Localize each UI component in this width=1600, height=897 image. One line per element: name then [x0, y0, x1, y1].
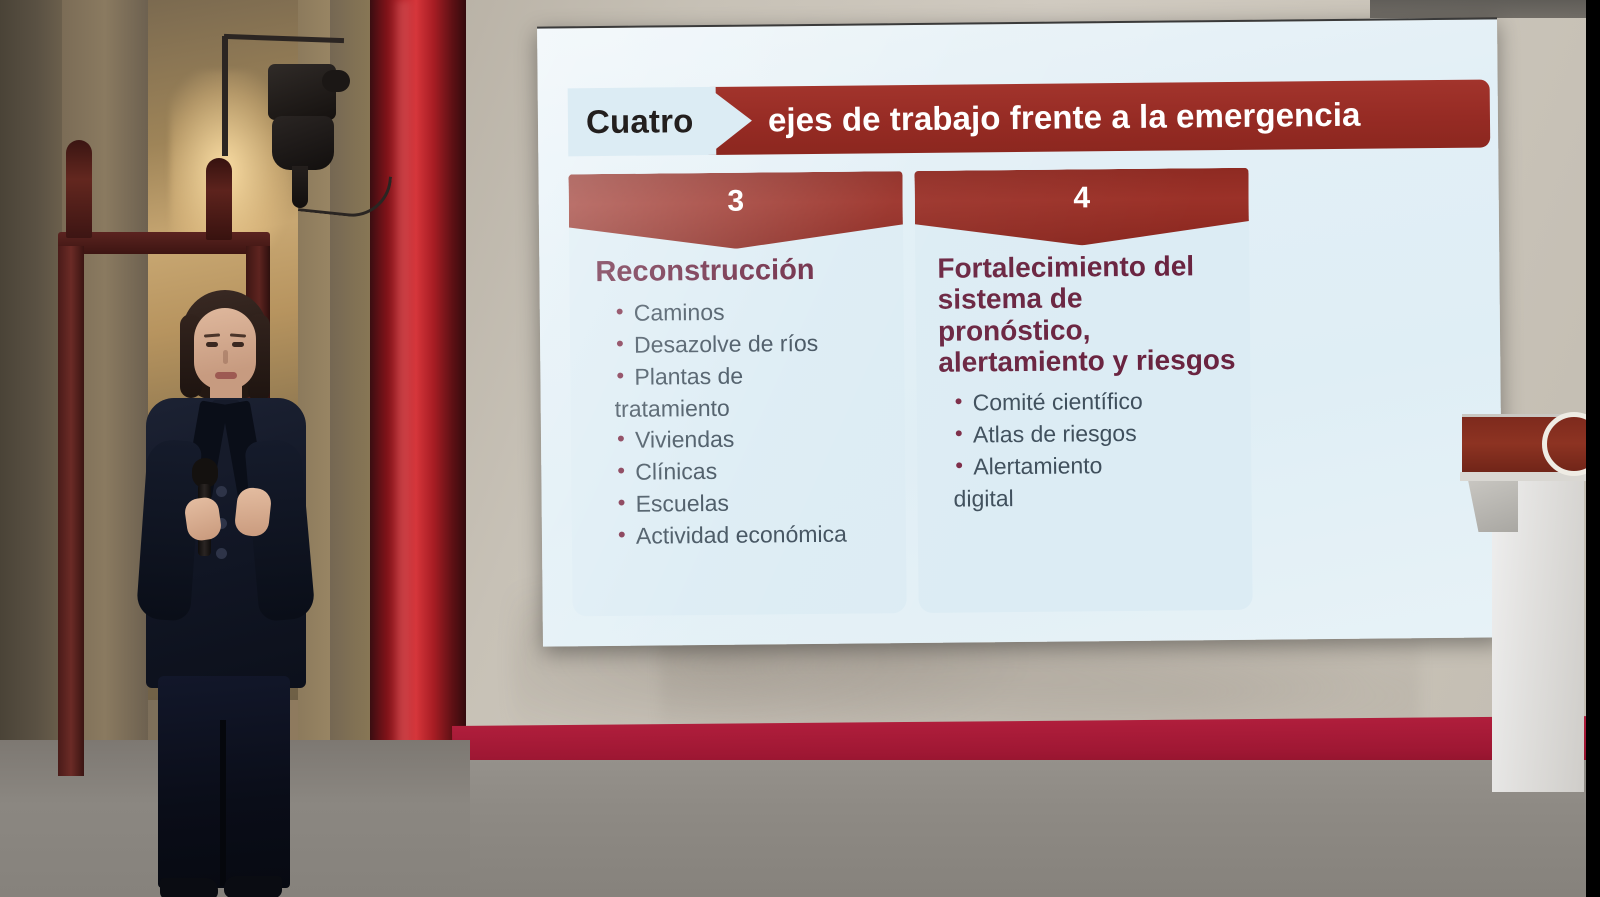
- column-4-header: 4: [914, 168, 1249, 247]
- presenter-eye-right: [232, 342, 244, 347]
- column-3-bullet-list: Caminos Desazolve de ríos Plantas de tra…: [596, 296, 892, 553]
- slide-title-prefix: Cuatro: [568, 87, 716, 156]
- presenter: [120, 290, 330, 810]
- column-4-body: Fortalecimiento del sistema de pronóstic…: [915, 244, 1252, 526]
- column-3-body: Reconstrucción Caminos Desazolve de ríos…: [569, 247, 906, 563]
- curtain-highlight: [392, 0, 414, 775]
- list-item: Viviendas: [615, 423, 891, 457]
- dark-column-outer: [0, 0, 62, 760]
- list-item: Caminos: [614, 296, 890, 330]
- slide-canvas: ejes de trabajo frente a la emergencia C…: [537, 17, 1503, 646]
- right-edge-letterbox: [1586, 0, 1600, 897]
- presenter-trouser-split: [220, 720, 226, 886]
- column-4-number: 4: [915, 180, 1249, 217]
- list-item-continuation: digital: [953, 481, 1237, 515]
- wooden-arch-left-post: [58, 246, 84, 776]
- presenter-shoe-right: [224, 876, 282, 897]
- presenter-mouth: [215, 372, 237, 379]
- arch-finial-left: [66, 140, 92, 238]
- column-3-heading: Reconstrucción: [595, 253, 889, 288]
- presenter-button-3: [216, 548, 227, 559]
- red-curtain: [370, 0, 466, 775]
- list-item: Desazolve de ríos: [614, 327, 890, 361]
- list-item: Comité científico: [953, 385, 1237, 419]
- list-item: Atlas de riesgos: [953, 417, 1237, 451]
- presenter-eye-left: [206, 342, 218, 347]
- camera-mount-pole: [222, 36, 228, 156]
- slide-title-row: ejes de trabajo frente a la emergencia C…: [568, 79, 1491, 156]
- camera-lens-hood-icon: [322, 70, 350, 92]
- slide-columns: 3 Reconstrucción Caminos Desazolve de rí…: [568, 168, 1252, 617]
- column-4-bullet-list: Comité científico Atlas de riesgos Alert…: [939, 385, 1238, 515]
- column-3-header: 3: [568, 171, 903, 250]
- slide-column-3: 3 Reconstrucción Caminos Desazolve de rí…: [568, 171, 906, 616]
- presenter-shoe-left: [160, 878, 218, 897]
- slide-title-main: ejes de trabajo frente a la emergencia: [768, 96, 1361, 140]
- list-item-continuation: tratamiento: [615, 391, 891, 425]
- list-item: Alertamiento: [953, 449, 1237, 483]
- presenter-button-1: [216, 486, 227, 497]
- presenter-nose: [223, 350, 228, 364]
- arch-finial-right: [206, 158, 232, 240]
- list-item: Clínicas: [615, 454, 891, 488]
- top-edge-shadow: [1370, 0, 1600, 18]
- list-item: Plantas de: [614, 359, 890, 393]
- slide-title-banner: ejes de trabajo frente a la emergencia: [708, 79, 1491, 155]
- projection-screen: ejes de trabajo frente a la emergencia C…: [537, 17, 1503, 646]
- slide-column-4: 4 Fortalecimiento del sistema de pronóst…: [914, 168, 1252, 613]
- column-3-number: 3: [569, 183, 903, 220]
- list-item: Actividad económica: [616, 518, 892, 552]
- column-4-heading: Fortalecimiento del sistema de pronóstic…: [937, 250, 1236, 378]
- camera-head-mount: [272, 116, 334, 170]
- wall-strip: [330, 0, 372, 770]
- list-item: Escuelas: [615, 486, 891, 520]
- screenshot-scene: ejes de trabajo frente a la emergencia C…: [0, 0, 1600, 897]
